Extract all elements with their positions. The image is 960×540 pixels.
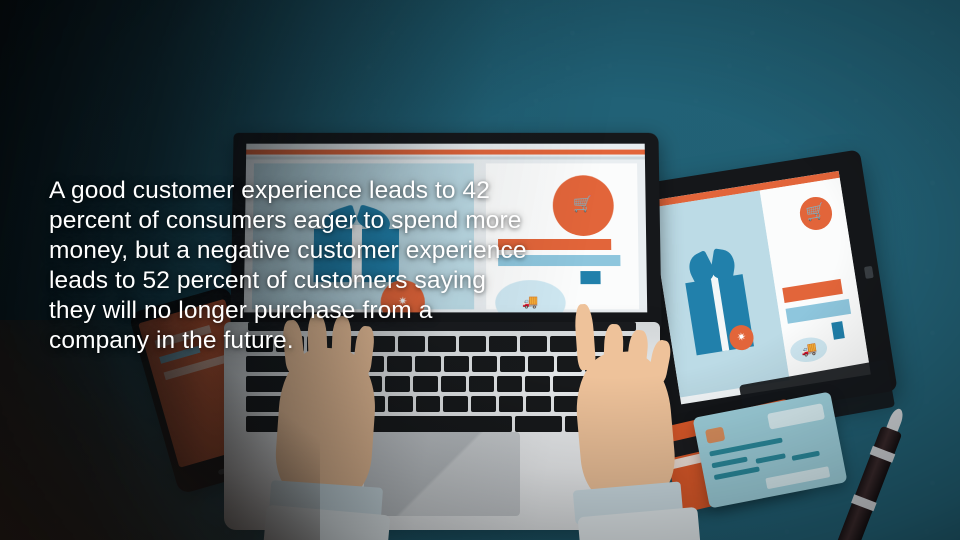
caption-line-5: they will no longer purchase from a — [49, 296, 609, 326]
caption-line-4: leads to 52 percent of customers saying — [49, 266, 609, 296]
card-chip-icon — [705, 427, 725, 444]
card-highlight-bar — [767, 403, 825, 429]
card-line — [711, 457, 747, 469]
card-footer-bar — [765, 466, 830, 489]
tablet-bar-orange — [782, 278, 843, 302]
caption-line-2: percent of consumers eager to spend more — [49, 206, 609, 236]
video-frame: A good customer experience leads to 42 p… — [0, 0, 960, 540]
screen-topbar-grey — [246, 157, 645, 160]
card-line — [755, 453, 785, 464]
caption-line-3: money, but a negative customer experienc… — [49, 236, 609, 266]
screen-topbar-orange — [246, 150, 645, 155]
tablet-home-button — [864, 266, 874, 279]
caption-line-1: A good customer experience leads to 42 — [49, 176, 609, 206]
delivery-truck-icon — [789, 335, 829, 365]
caption-line-6: company in the future. — [49, 326, 609, 356]
shopping-cart-icon — [797, 195, 834, 232]
card-line — [714, 466, 760, 480]
tablet-square-blue — [832, 321, 845, 340]
card-line — [792, 451, 820, 461]
caption-text: A good customer experience leads to 42 p… — [49, 176, 609, 356]
